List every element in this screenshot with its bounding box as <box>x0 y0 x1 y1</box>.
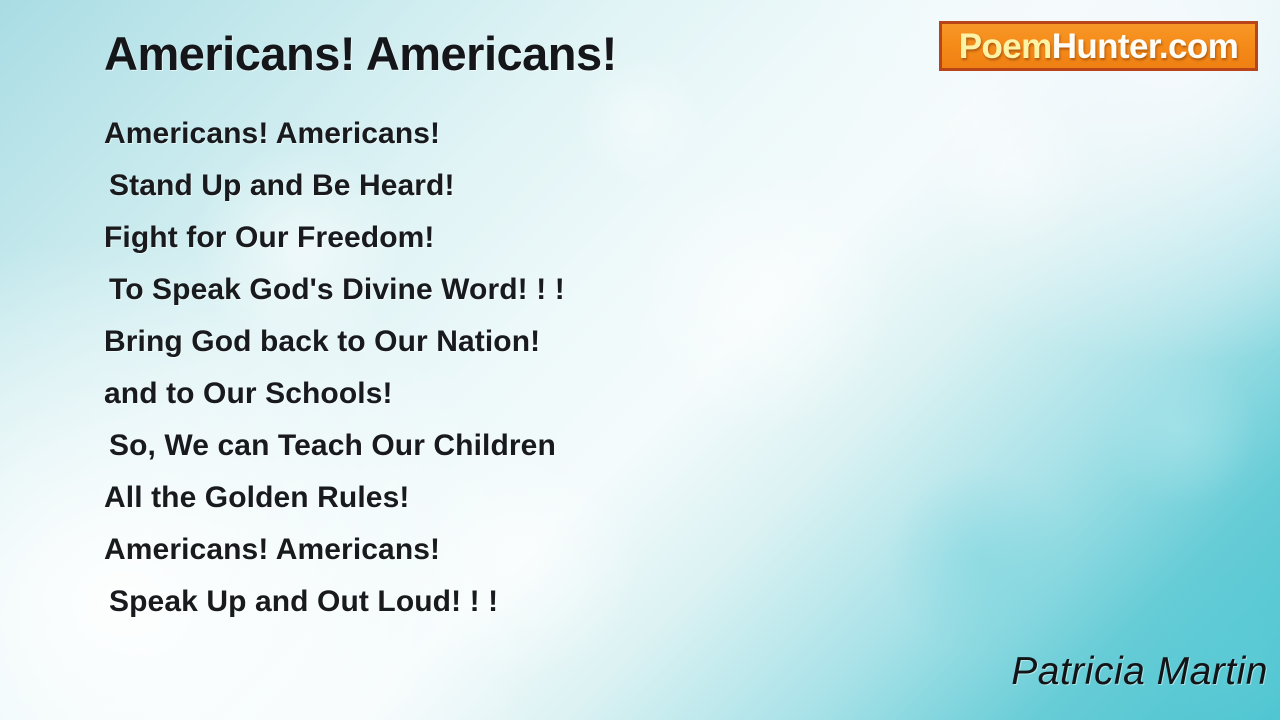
poem-author-name: Patricia Martin <box>1011 650 1268 694</box>
poem-line: All the Golden Rules! <box>104 472 864 524</box>
poemhunter-logo-badge[interactable]: PoemHunter.com <box>939 21 1258 71</box>
poem-image-canvas: Americans! Americans! Americans! America… <box>0 0 1280 720</box>
poem-line: To Speak God's Divine Word! ! ! <box>104 264 864 316</box>
poem-body: Americans! Americans!Stand Up and Be Hea… <box>104 108 864 628</box>
poem-line: Stand Up and Be Heard! <box>104 160 864 212</box>
poemhunter-logo-text: PoemHunter.com <box>959 29 1238 64</box>
poem-line: Americans! Americans! <box>104 524 864 576</box>
poem-line: and to Our Schools! <box>104 368 864 420</box>
poem-line: Fight for Our Freedom! <box>104 212 864 264</box>
poem-line: Bring God back to Our Nation! <box>104 316 864 368</box>
poem-line: Speak Up and Out Loud! ! ! <box>104 576 864 628</box>
poem-line: So, We can Teach Our Children <box>104 420 864 472</box>
logo-word-hunter-com: Hunter.com <box>1052 27 1239 66</box>
logo-word-poem: Poem <box>959 27 1052 66</box>
page-title: Americans! Americans! <box>104 26 617 81</box>
poem-line: Americans! Americans! <box>104 108 864 160</box>
